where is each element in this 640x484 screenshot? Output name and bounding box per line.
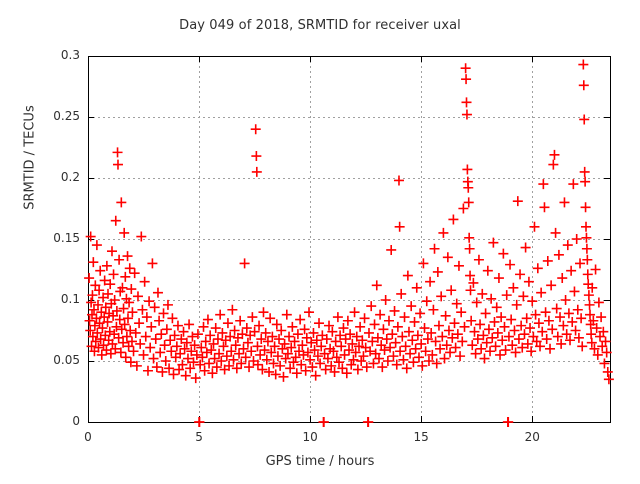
y-tick-label: 0.25 — [32, 109, 80, 123]
y-tick-label: 0.1 — [32, 292, 80, 306]
data-points — [84, 60, 614, 427]
y-tick-label: 0.05 — [32, 353, 80, 367]
y-tick-label: 0.15 — [32, 231, 80, 245]
plot-area — [0, 0, 640, 484]
scatter-plot-canvas — [0, 0, 640, 480]
y-tick-label: 0.2 — [32, 170, 80, 184]
x-tick-label: 10 — [290, 430, 330, 444]
y-tick-label: 0 — [32, 414, 80, 428]
x-tick-label: 15 — [401, 430, 441, 444]
x-tick-label: 5 — [179, 430, 219, 444]
chart-figure: Day 049 of 2018, SRMTID for receiver uxa… — [0, 0, 640, 480]
x-tick-label: 0 — [68, 430, 108, 444]
x-tick-label: 20 — [512, 430, 552, 444]
y-tick-label: 0.3 — [32, 48, 80, 62]
gridlines — [88, 56, 610, 422]
